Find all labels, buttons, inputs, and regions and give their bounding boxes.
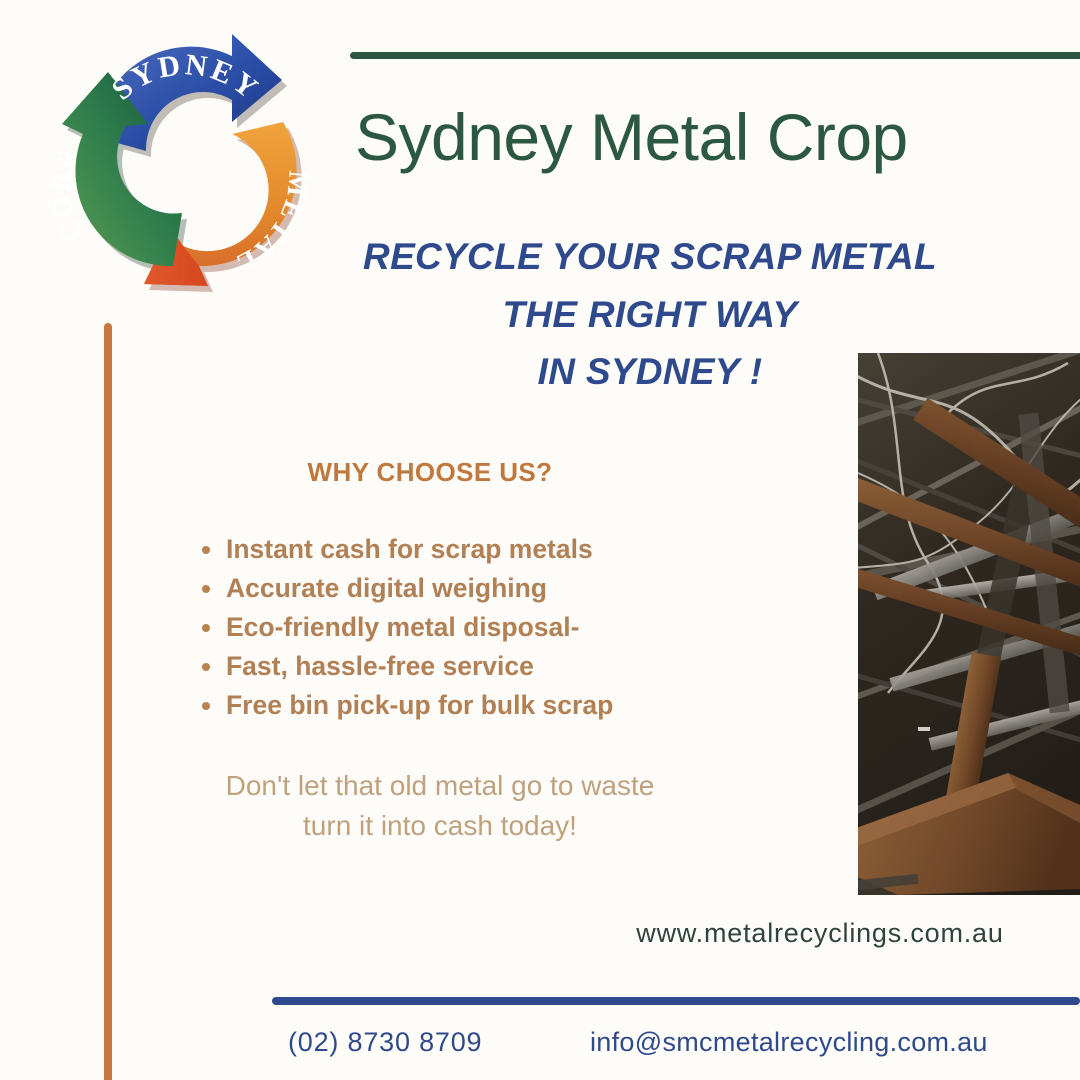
closing-line-1: Don't let that old metal go to waste [140,766,740,806]
why-choose-us-heading: WHY CHOOSE US? [175,457,685,488]
list-item: Eco-friendly metal disposal- [196,608,756,647]
phone-number[interactable]: (02) 8730 8709 [288,1027,482,1058]
closing-line-2: turn it into cash today! [140,806,740,846]
page-title: Sydney Metal Crop [355,103,1055,172]
footer-blue-divider [272,997,1080,1005]
email-address[interactable]: info@smcmetalrecycling.com.au [590,1027,988,1058]
list-item: Fast, hassle-free service [196,647,756,686]
list-item: Accurate digital weighing [196,569,756,608]
header-green-divider [350,52,1080,59]
tagline-line-2: THE RIGHT WAY [300,286,1000,344]
scrap-metal-pile-photo [858,353,1080,895]
tagline-line-1: RECYCLE YOUR SCRAP METAL [300,228,1000,286]
list-item: Free bin pick-up for bulk scrap [196,686,756,725]
benefits-list: Instant cash for scrap metals Accurate d… [196,530,756,725]
website-url[interactable]: www.metalrecyclings.com.au [560,918,1080,949]
orange-vertical-divider [104,323,112,1080]
flyer-canvas: SYDNEY METAL CORP Sydney Metal Crop RECY… [0,0,1080,1080]
list-item: Instant cash for scrap metals [196,530,756,569]
closing-message: Don't let that old metal go to waste tur… [140,766,740,846]
sydney-metal-corp-logo: SYDNEY METAL CORP [36,14,336,314]
